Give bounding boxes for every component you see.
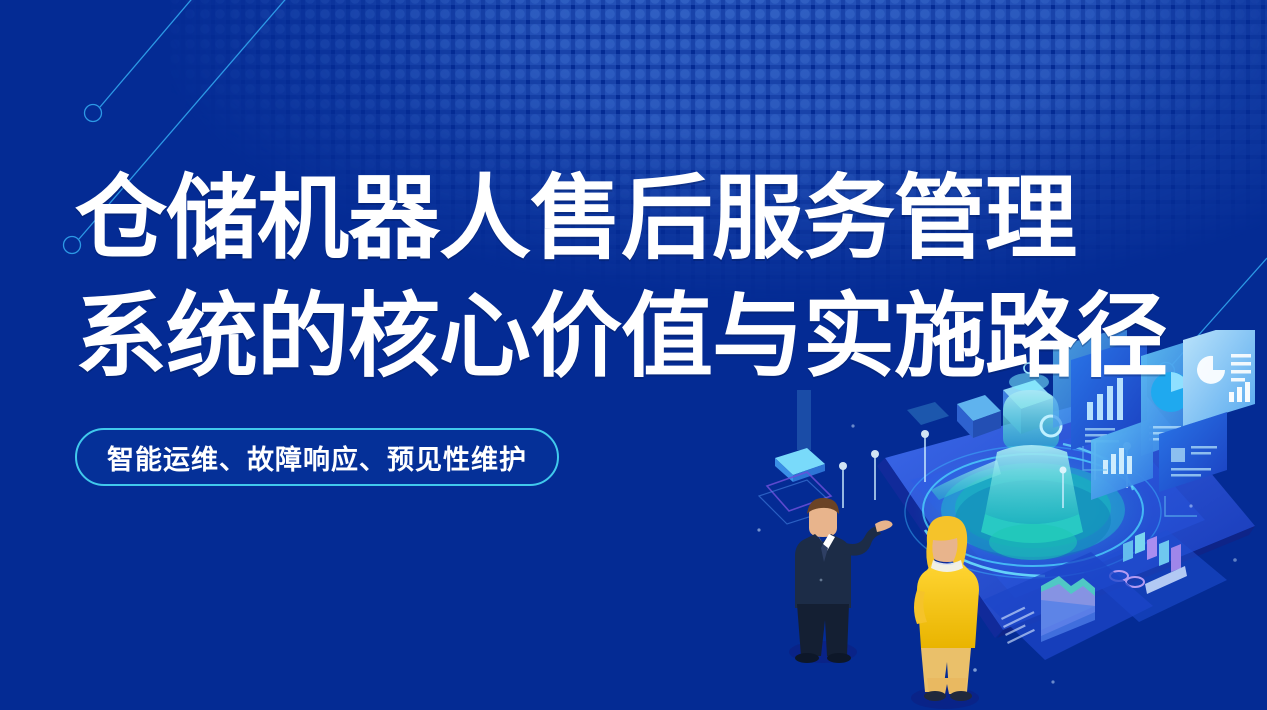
subtitle-badge-label: 智能运维、故障响应、预见性维护 — [107, 438, 527, 477]
title-line-1: 仓储机器人售后服务管理 — [75, 160, 1205, 278]
page-title: 仓储机器人售后服务管理 系统的核心价值与实施路径 — [75, 160, 1205, 396]
businessman-figure — [789, 498, 893, 663]
poster-canvas: 仓储机器人售后服务管理 系统的核心价值与实施路径 智能运维、故障响应、预见性维护 — [0, 0, 1267, 710]
subtitle-badge: 智能运维、故障响应、预见性维护 — [75, 428, 559, 486]
node-circle-top-left — [85, 105, 102, 122]
title-line-2: 系统的核心价值与实施路径 — [75, 278, 1205, 396]
